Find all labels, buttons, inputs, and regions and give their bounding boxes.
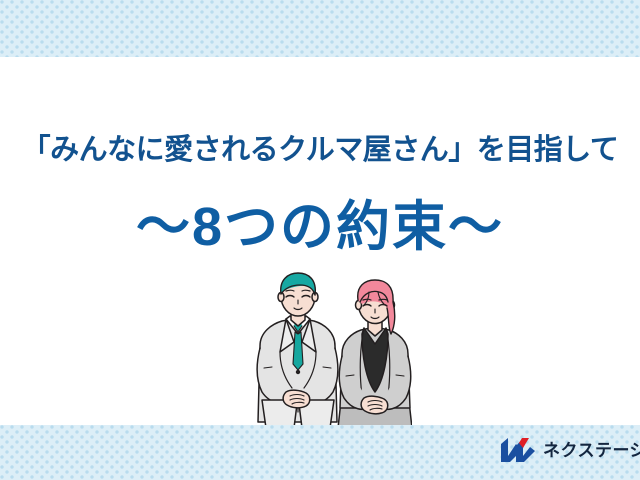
nexstage-logo-text: ネクステージ: [543, 442, 640, 459]
slide-subtitle: 「みんなに愛されるクルマ屋さん」を目指して: [0, 126, 640, 168]
nexstage-logo: ネクステージ: [500, 437, 640, 463]
female-staff-figure: [338, 280, 412, 428]
slide-canvas: 「みんなに愛されるクルマ屋さん」を目指して 〜8つの約束〜: [0, 0, 640, 480]
top-dotted-band: [0, 0, 640, 57]
nexstage-n-mark: [500, 437, 536, 463]
two-staff-bowing-illustration: [236, 272, 412, 428]
slide-title: 〜8つの約束〜: [0, 182, 640, 261]
male-staff-figure: [257, 273, 338, 428]
